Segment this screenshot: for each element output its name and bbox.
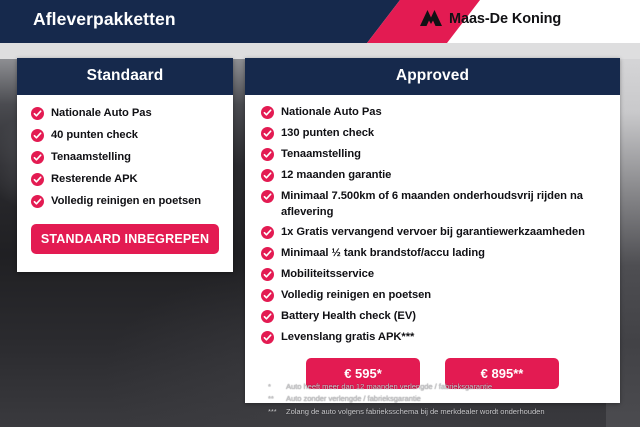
- footnote-row: **Auto zonder verlengde / fabrieksgarant…: [268, 393, 618, 405]
- approved-feature-item: Minimaal ½ tank brandstof/accu lading: [261, 246, 604, 262]
- check-circle-icon: [31, 107, 44, 120]
- standaard-feature-item: 40 punten check: [31, 128, 219, 144]
- approved-feature-item: Battery Health check (EV): [261, 309, 604, 325]
- check-circle-icon: [261, 106, 274, 119]
- standaard-feature-item: Tenaamstelling: [31, 150, 219, 166]
- check-circle-icon: [31, 129, 44, 142]
- approved-feature-item: 130 punten check: [261, 126, 604, 142]
- check-circle-icon: [261, 226, 274, 239]
- standaard-feature-item-label: Tenaamstelling: [51, 150, 131, 166]
- check-circle-icon: [31, 195, 44, 208]
- page-title: Afleverpakketten: [33, 9, 176, 30]
- maas-de-koning-m-logo-icon: [420, 10, 442, 27]
- standaard-card-heading: Standaard: [17, 58, 233, 95]
- standaard-feature-item-label: Resterende APK: [51, 172, 138, 188]
- approved-feature-item-label: Tenaamstelling: [281, 147, 361, 163]
- brand-name: Maas-De Koning: [449, 11, 561, 27]
- footnote-row: *Auto heeft meer dan 12 maanden verlengd…: [268, 381, 618, 393]
- approved-card-heading: Approved: [245, 58, 620, 95]
- approved-card-body: Nationale Auto Pas130 punten checkTenaam…: [245, 95, 620, 403]
- check-circle-icon: [261, 310, 274, 323]
- approved-feature-item: Levenslang gratis APK***: [261, 330, 604, 346]
- afleverpakketten-page: Afleverpakketten Maas-De Koning Standaar…: [0, 0, 640, 427]
- footnote-text: Zolang de auto volgens fabrieksschema bi…: [286, 406, 545, 418]
- check-circle-icon: [261, 289, 274, 302]
- footnote-row: ***Zolang de auto volgens fabrieksschema…: [268, 406, 618, 418]
- approved-feature-item: Minimaal 7.500km of 6 maanden onderhouds…: [261, 189, 604, 221]
- check-circle-icon: [31, 151, 44, 164]
- brand-logo: Maas-De Koning: [420, 10, 561, 27]
- background-top-strip: [0, 43, 640, 59]
- approved-feature-item: 1x Gratis vervangend vervoer bij garanti…: [261, 225, 604, 241]
- standaard-feature-item: Resterende APK: [31, 172, 219, 188]
- check-circle-icon: [31, 173, 44, 186]
- approved-feature-item-label: Nationale Auto Pas: [281, 105, 382, 121]
- approved-feature-item-label: Battery Health check (EV): [281, 309, 416, 325]
- approved-feature-item: 12 maanden garantie: [261, 168, 604, 184]
- check-circle-icon: [261, 190, 274, 203]
- approved-feature-item-label: Minimaal ½ tank brandstof/accu lading: [281, 246, 485, 262]
- approved-feature-item-label: Volledig reinigen en poetsen: [281, 288, 431, 304]
- approved-feature-item-label: 12 maanden garantie: [281, 168, 391, 184]
- standaard-card: Standaard Nationale Auto Pas40 punten ch…: [17, 58, 233, 272]
- approved-feature-item-label: Mobiliteitsservice: [281, 267, 374, 283]
- check-circle-icon: [261, 148, 274, 161]
- check-circle-icon: [261, 331, 274, 344]
- standaard-feature-item-label: Nationale Auto Pas: [51, 106, 152, 122]
- approved-feature-item-label: 1x Gratis vervangend vervoer bij garanti…: [281, 225, 585, 241]
- approved-feature-item-label: 130 punten check: [281, 126, 374, 142]
- approved-feature-item-label: Minimaal 7.500km of 6 maanden onderhouds…: [281, 189, 604, 221]
- check-circle-icon: [261, 247, 274, 260]
- footnote-marker: *: [268, 381, 282, 393]
- standaard-feature-item-label: Volledig reinigen en poetsen: [51, 194, 201, 210]
- approved-feature-item: Mobiliteitsservice: [261, 267, 604, 283]
- approved-feature-item-label: Levenslang gratis APK***: [281, 330, 414, 346]
- approved-feature-list: Nationale Auto Pas130 punten checkTenaam…: [261, 105, 604, 346]
- footnote-marker: **: [268, 393, 282, 405]
- check-circle-icon: [261, 268, 274, 281]
- footnote-text: Auto heeft meer dan 12 maanden verlengde…: [286, 381, 492, 393]
- standaard-feature-item-label: 40 punten check: [51, 128, 138, 144]
- footnote-marker: ***: [268, 406, 282, 418]
- standaard-feature-item: Nationale Auto Pas: [31, 106, 219, 122]
- approved-feature-item: Tenaamstelling: [261, 147, 604, 163]
- approved-feature-item: Volledig reinigen en poetsen: [261, 288, 604, 304]
- approved-feature-item: Nationale Auto Pas: [261, 105, 604, 121]
- page-header: Afleverpakketten Maas-De Koning: [0, 0, 640, 43]
- check-circle-icon: [261, 169, 274, 182]
- footnote-text: Auto zonder verlengde / fabrieksgarantie: [286, 393, 421, 405]
- standaard-card-body: Nationale Auto Pas40 punten checkTenaams…: [17, 95, 233, 272]
- approved-card: Approved Nationale Auto Pas130 punten ch…: [245, 58, 620, 403]
- standaard-feature-item: Volledig reinigen en poetsen: [31, 194, 219, 210]
- check-circle-icon: [261, 127, 274, 140]
- standaard-feature-list: Nationale Auto Pas40 punten checkTenaams…: [31, 106, 219, 210]
- footnotes: *Auto heeft meer dan 12 maanden verlengd…: [268, 381, 618, 418]
- standaard-inbegrepen-button[interactable]: STANDAARD INBEGREPEN: [31, 224, 219, 254]
